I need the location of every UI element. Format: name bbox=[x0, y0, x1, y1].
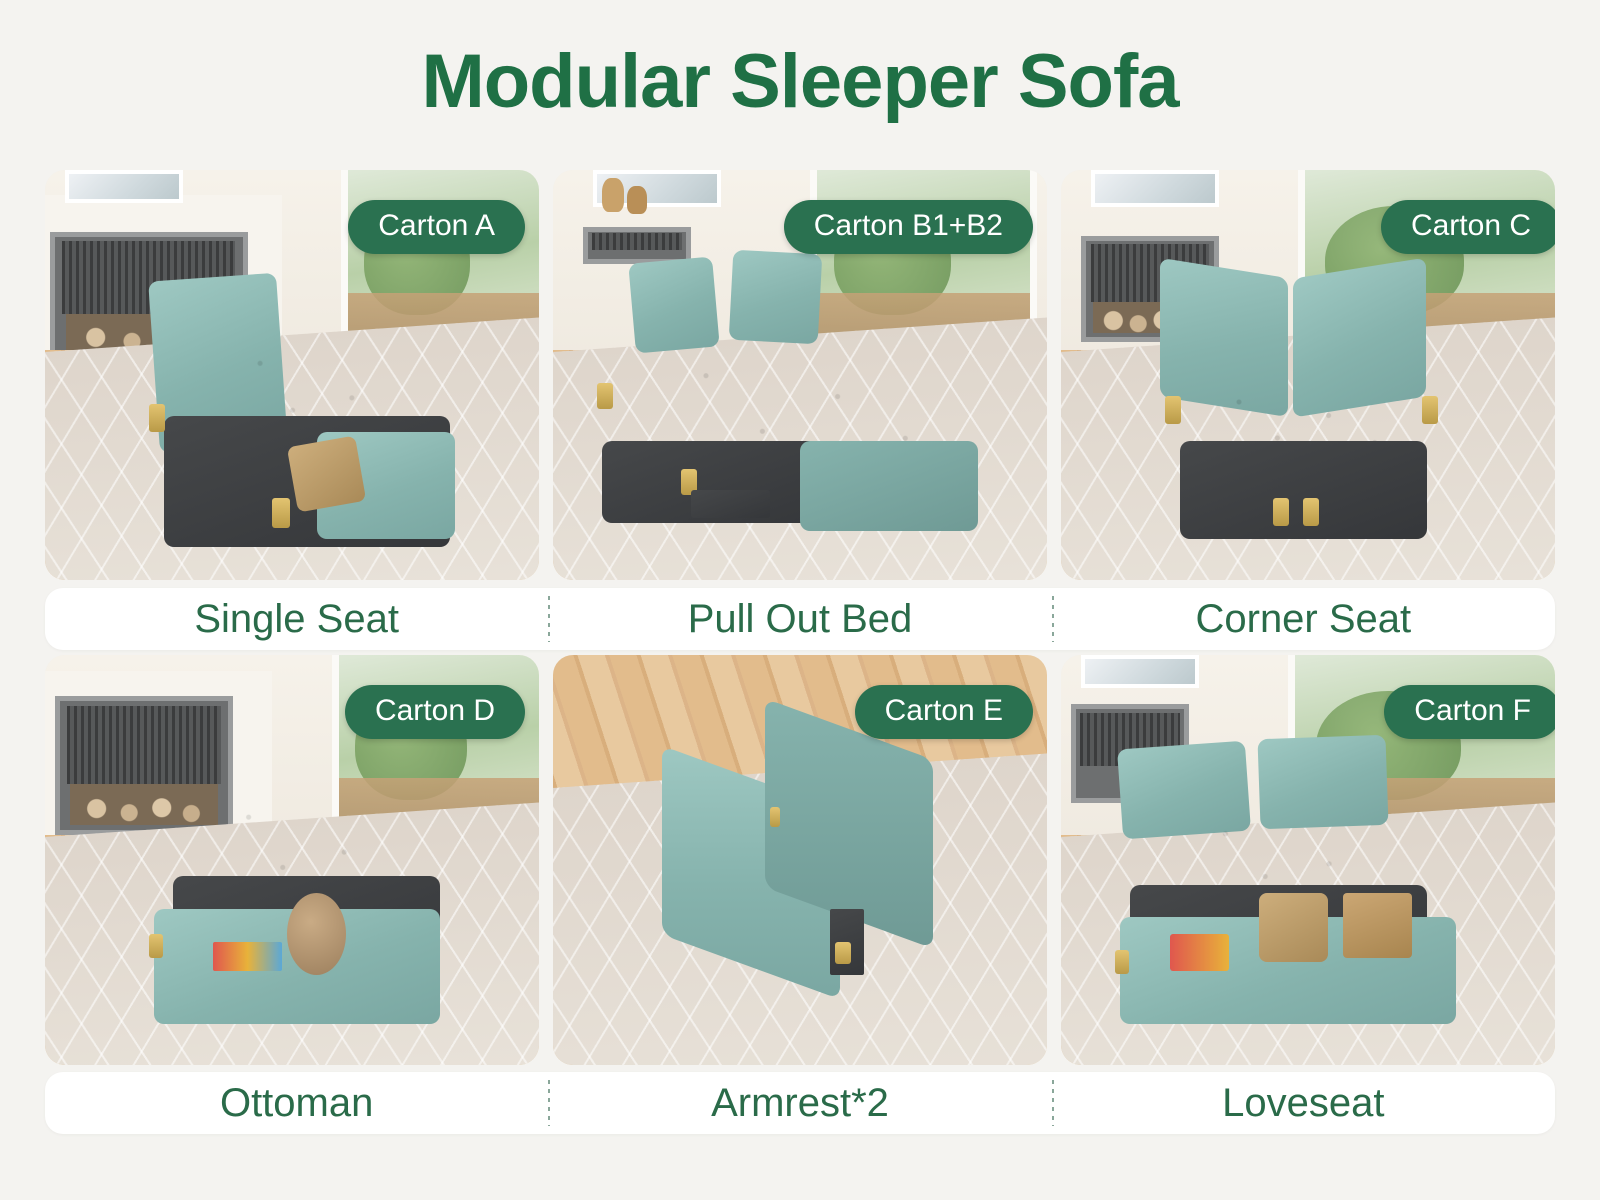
gold-bracket-icon bbox=[1165, 396, 1181, 424]
product-card-corner-seat[interactable]: Carton C bbox=[1061, 170, 1555, 580]
carton-badge: Carton C bbox=[1381, 200, 1555, 254]
caption-ottoman: Ottoman bbox=[45, 1081, 548, 1126]
gold-bracket-icon bbox=[835, 942, 851, 964]
decor-vase bbox=[602, 178, 624, 212]
caption-loveseat: Loveseat bbox=[1052, 1081, 1555, 1126]
bed-backrest-right bbox=[729, 250, 823, 345]
carton-badge: Carton D bbox=[345, 685, 525, 739]
product-card-loveseat[interactable]: Carton F bbox=[1061, 655, 1555, 1065]
gold-bracket-icon bbox=[1422, 396, 1438, 424]
gold-bracket-icon bbox=[1303, 498, 1319, 526]
teddy-bear-toy bbox=[287, 893, 346, 975]
wall-art bbox=[1081, 655, 1200, 688]
product-card-armrest[interactable]: Carton E bbox=[553, 655, 1047, 1065]
pull-out-mechanism bbox=[691, 490, 770, 519]
gold-bracket-icon bbox=[597, 383, 613, 409]
caption-bar-row-2: Ottoman Armrest*2 Loveseat bbox=[45, 1072, 1555, 1134]
carton-badge: Carton F bbox=[1384, 685, 1555, 739]
throw-pillow bbox=[287, 435, 366, 512]
throw-pillow bbox=[1259, 893, 1328, 963]
storage-contents-snacks bbox=[1170, 934, 1229, 971]
gold-bracket-icon bbox=[149, 934, 163, 958]
wall-art bbox=[65, 170, 184, 203]
storage-basket bbox=[1343, 893, 1412, 959]
gold-bracket-icon bbox=[272, 498, 290, 528]
decor-vase bbox=[627, 186, 647, 214]
caption-pull-out-bed: Pull Out Bed bbox=[548, 597, 1051, 642]
carton-badge: Carton B1+B2 bbox=[784, 200, 1033, 254]
gold-bracket-icon bbox=[1273, 498, 1289, 526]
product-card-ottoman[interactable]: Carton D bbox=[45, 655, 539, 1065]
storage-contents-books bbox=[213, 942, 282, 971]
page-title: Modular Sleeper Sofa bbox=[0, 0, 1600, 120]
caption-bar-row-1: Single Seat Pull Out Bed Corner Seat bbox=[45, 588, 1555, 650]
wall-art bbox=[1091, 170, 1219, 207]
carton-badge: Carton A bbox=[348, 200, 525, 254]
bed-front-panel bbox=[800, 441, 978, 531]
caption-corner-seat: Corner Seat bbox=[1052, 597, 1555, 642]
product-card-pull-out-bed[interactable]: Carton B1+B2 bbox=[553, 170, 1047, 580]
product-row-1: Carton A Carton B1+ bbox=[0, 170, 1600, 580]
gold-bracket-icon bbox=[1115, 950, 1129, 974]
product-card-single-seat[interactable]: Carton A bbox=[45, 170, 539, 580]
product-row-2: Carton D Carton E bbox=[0, 655, 1600, 1065]
caption-single-seat: Single Seat bbox=[45, 597, 548, 642]
gold-bracket-icon bbox=[770, 807, 780, 827]
carton-badge: Carton E bbox=[855, 685, 1033, 739]
gold-bracket-icon bbox=[149, 404, 165, 432]
caption-armrest: Armrest*2 bbox=[548, 1081, 1051, 1126]
